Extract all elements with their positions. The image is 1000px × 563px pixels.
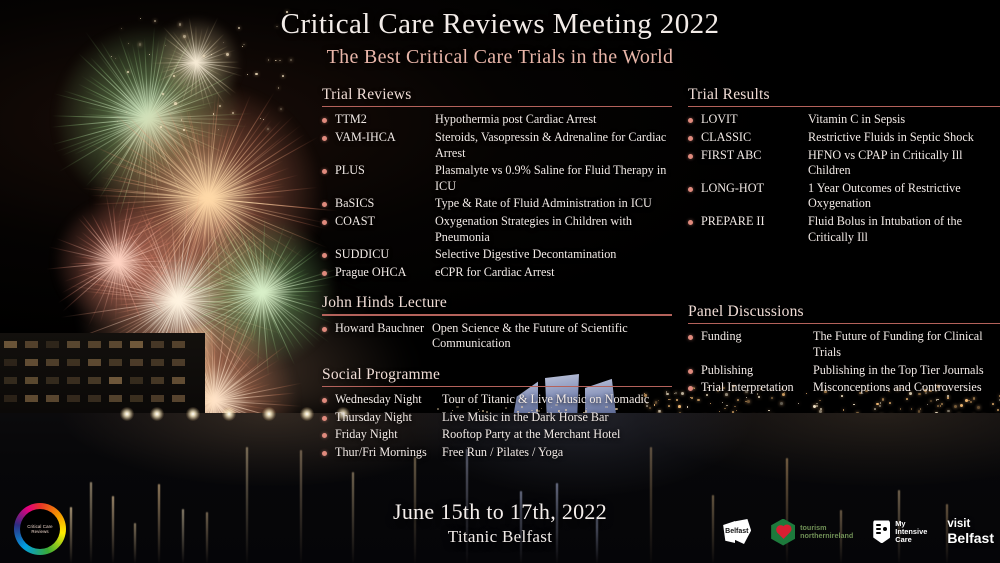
bullet-icon xyxy=(322,451,327,456)
list-item: FundingThe Future of Funding for Clinica… xyxy=(688,329,1000,360)
mic-line3: Care xyxy=(895,536,927,544)
page-title: Critical Care Reviews Meeting 2022 xyxy=(0,8,1000,41)
sponsor-logo-bar: Belfast tourism northernireland xyxy=(723,511,994,553)
heading-underline xyxy=(688,323,1000,324)
item-name: LONG-HOT xyxy=(701,181,808,197)
item-description: The Future of Funding for Clinical Trial… xyxy=(813,329,1000,360)
bullet-icon xyxy=(688,335,693,340)
item-name: PREPARE II xyxy=(701,214,808,230)
item-name: Publishing xyxy=(701,363,813,379)
belfast-mark-icon: Belfast xyxy=(723,519,751,545)
item-name: FIRST ABC xyxy=(701,148,808,164)
hospital-bed-shield-icon xyxy=(873,520,890,543)
item-description: Selective Digestive Decontamination xyxy=(435,247,616,263)
heart-shape xyxy=(777,526,790,539)
heading-underline xyxy=(688,106,1000,107)
bullet-icon xyxy=(688,154,693,159)
trial-reviews-list: TTM2Hypothermia post Cardiac ArrestVAM-I… xyxy=(322,112,672,280)
item-description: Rooftop Party at the Merchant Hotel xyxy=(442,427,620,443)
item-name: CLASSIC xyxy=(701,130,808,146)
section-heading-social-programme: Social Programme xyxy=(322,366,440,386)
list-item: Wednesday NightTour of Titanic & Live Mu… xyxy=(322,392,672,408)
item-name: Thursday Night xyxy=(335,410,442,426)
item-name: COAST xyxy=(335,214,435,230)
item-name: SUDDICU xyxy=(335,247,435,263)
bullet-icon xyxy=(688,220,693,225)
bullet-icon xyxy=(322,433,327,438)
item-name: Howard Bauchner xyxy=(335,321,432,337)
bullet-icon xyxy=(322,136,327,141)
section-heading-trial-reviews: Trial Reviews xyxy=(322,86,411,106)
section-social-programme: Social Programme Wednesday NightTour of … xyxy=(322,366,672,461)
list-item: BaSICSType & Rate of Fluid Administratio… xyxy=(322,196,672,212)
item-description: Steroids, Vasopressin & Adrenaline for C… xyxy=(435,130,672,161)
bullet-icon xyxy=(322,327,327,332)
item-description: Live Music in the Dark Horse Bar xyxy=(442,410,609,426)
bullet-icon xyxy=(322,253,327,258)
visit-belfast-line2: Belfast xyxy=(947,531,994,545)
item-description: Vitamin C in Sepsis xyxy=(808,112,905,128)
heading-underline xyxy=(322,386,672,387)
item-description: HFNO vs CPAP in Critically Ill Children xyxy=(808,148,1000,179)
section-trial-reviews: Trial Reviews TTM2Hypothermia post Cardi… xyxy=(322,86,672,280)
list-item: LOVITVitamin C in Sepsis xyxy=(688,112,1000,128)
item-name: PLUS xyxy=(335,163,435,179)
green-hexagon-heart-icon xyxy=(771,519,795,546)
belfast-label: Belfast xyxy=(725,528,748,535)
item-name: LOVIT xyxy=(701,112,808,128)
item-name: Funding xyxy=(701,329,813,345)
list-item: Trial InterpretationMisconceptions and C… xyxy=(688,380,1000,396)
poster-canvas: Critical Care Reviews Meeting 2022 The B… xyxy=(0,0,1000,563)
item-description: Plasmalyte vs 0.9% Saline for Fluid Ther… xyxy=(435,163,672,194)
bullet-icon xyxy=(688,136,693,141)
item-name: TTM2 xyxy=(335,112,435,128)
list-item: PublishingPublishing in the Top Tier Jou… xyxy=(688,363,1000,379)
poster-content: Critical Care Reviews Meeting 2022 The B… xyxy=(0,0,1000,563)
my-intensive-care-wordmark: My Intensive Care xyxy=(895,520,927,543)
item-description: Tour of Titanic & Live Music on Nomadic xyxy=(442,392,649,408)
critical-care-reviews-logo[interactable]: Critical Care Reviews xyxy=(14,503,66,555)
list-item: FIRST ABCHFNO vs CPAP in Critically Ill … xyxy=(688,148,1000,179)
heading-underline xyxy=(322,314,672,315)
belfast-city-logo[interactable]: Belfast xyxy=(723,519,751,545)
item-name: Prague OHCA xyxy=(335,265,435,281)
my-intensive-care-logo[interactable]: My Intensive Care xyxy=(873,520,927,543)
ccr-logo-line2: Reviews xyxy=(31,529,48,535)
visit-belfast-logo[interactable]: visit Belfast xyxy=(947,519,994,545)
section-heading-john-hinds-lecture: John Hinds Lecture xyxy=(322,294,447,314)
item-description: Misconceptions and Controversies xyxy=(813,380,982,396)
item-name: VAM-IHCA xyxy=(335,130,435,146)
bullet-icon xyxy=(322,416,327,421)
john-hinds-lecture-list: Howard BauchnerOpen Science & the Future… xyxy=(322,321,672,352)
item-name: Trial Interpretation xyxy=(701,380,813,396)
bullet-icon xyxy=(322,398,327,403)
tourism-ni-line2: northernireland xyxy=(800,532,853,540)
visit-belfast-wordmark: visit Belfast xyxy=(947,519,994,545)
item-description: Free Run / Pilates / Yoga xyxy=(442,445,563,461)
bullet-icon xyxy=(322,271,327,276)
list-item: Friday NightRooftop Party at the Merchan… xyxy=(322,427,672,443)
item-description: Hypothermia post Cardiac Arrest xyxy=(435,112,596,128)
left-column: Trial Reviews TTM2Hypothermia post Cardi… xyxy=(322,86,672,463)
right-column: Trial Results LOVITVitamin C in SepsisCL… xyxy=(688,86,1000,398)
list-item: Thur/Fri MorningsFree Run / Pilates / Yo… xyxy=(322,445,672,461)
bullet-icon xyxy=(688,118,693,123)
list-item: VAM-IHCASteroids, Vasopressin & Adrenali… xyxy=(322,130,672,161)
trial-results-list: LOVITVitamin C in SepsisCLASSICRestricti… xyxy=(688,112,1000,245)
logo-inner-disc: Critical Care Reviews xyxy=(20,509,60,549)
list-item: Prague OHCAeCPR for Cardiac Arrest xyxy=(322,265,672,281)
bullet-icon xyxy=(688,386,693,391)
item-name: BaSICS xyxy=(335,196,435,212)
item-description: Type & Rate of Fluid Administration in I… xyxy=(435,196,652,212)
item-name: Wednesday Night xyxy=(335,392,442,408)
panel-discussions-list: FundingThe Future of Funding for Clinica… xyxy=(688,329,1000,395)
section-heading-panel-discussions: Panel Discussions xyxy=(688,303,804,323)
list-item: PLUSPlasmalyte vs 0.9% Saline for Fluid … xyxy=(322,163,672,194)
section-john-hinds-lecture: John Hinds Lecture Howard BauchnerOpen S… xyxy=(322,294,672,352)
list-item: SUDDICUSelective Digestive Decontaminati… xyxy=(322,247,672,263)
tourism-ni-wordmark: tourism northernireland xyxy=(800,524,853,541)
list-item: Thursday NightLive Music in the Dark Hor… xyxy=(322,410,672,426)
item-description: 1 Year Outcomes of Restrictive Oxygenati… xyxy=(808,181,1000,212)
item-description: Open Science & the Future of Scientific … xyxy=(432,321,672,352)
list-item: Howard BauchnerOpen Science & the Future… xyxy=(322,321,672,352)
item-name: Thur/Fri Mornings xyxy=(335,445,442,461)
section-panel-discussions: Panel Discussions FundingThe Future of F… xyxy=(688,303,1000,396)
bullet-icon xyxy=(688,187,693,192)
item-description: Oxygenation Strategies in Children with … xyxy=(435,214,672,245)
list-item: LONG-HOT1 Year Outcomes of Restrictive O… xyxy=(688,181,1000,212)
heading-underline xyxy=(322,106,672,107)
item-name: Friday Night xyxy=(335,427,442,443)
bullet-icon xyxy=(322,220,327,225)
section-trial-results: Trial Results LOVITVitamin C in SepsisCL… xyxy=(688,86,1000,245)
list-item: COASTOxygenation Strategies in Children … xyxy=(322,214,672,245)
bullet-icon xyxy=(688,369,693,374)
section-heading-trial-results: Trial Results xyxy=(688,86,770,106)
list-item: TTM2Hypothermia post Cardiac Arrest xyxy=(322,112,672,128)
tourism-northern-ireland-logo[interactable]: tourism northernireland xyxy=(771,519,853,546)
list-item: PREPARE IIFluid Bolus in Intubation of t… xyxy=(688,214,1000,245)
page-subtitle: The Best Critical Care Trials in the Wor… xyxy=(0,46,1000,69)
social-programme-list: Wednesday NightTour of Titanic & Live Mu… xyxy=(322,392,672,460)
list-item: CLASSICRestrictive Fluids in Septic Shoc… xyxy=(688,130,1000,146)
item-description: Fluid Bolus in Intubation of the Critica… xyxy=(808,214,1000,245)
item-description: Publishing in the Top Tier Journals xyxy=(813,363,984,379)
item-description: Restrictive Fluids in Septic Shock xyxy=(808,130,974,146)
bullet-icon xyxy=(322,118,327,123)
item-description: eCPR for Cardiac Arrest xyxy=(435,265,554,281)
bullet-icon xyxy=(322,169,327,174)
bullet-icon xyxy=(322,202,327,207)
